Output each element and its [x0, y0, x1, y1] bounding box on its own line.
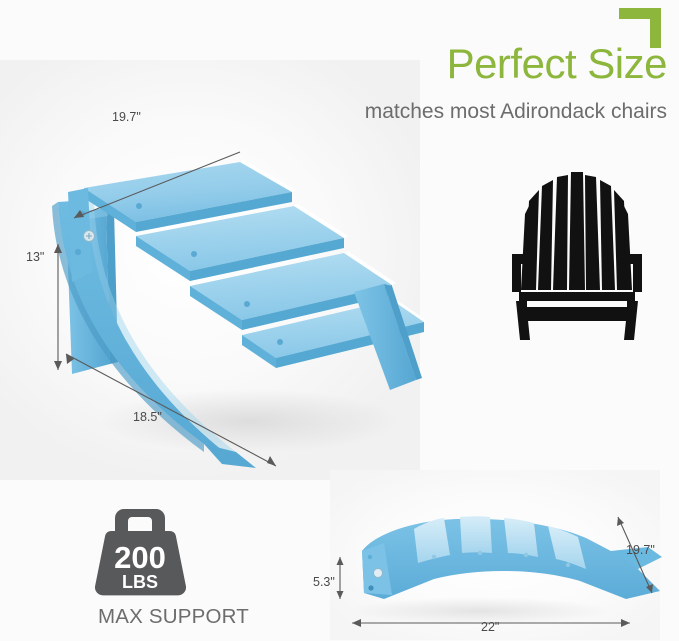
max-support-label: MAX SUPPORT — [66, 605, 281, 629]
dimension-label-width-top: 19.7" — [112, 110, 141, 124]
dimension-label-depth: 18.5" — [133, 410, 162, 424]
max-support-badge: 200 LBS MAX SUPPORT — [66, 505, 286, 635]
adirondack-chair-silhouette-icon — [497, 168, 657, 343]
weight-unit-text: LBS — [122, 572, 158, 592]
infographic-page: Perfect Size matches most Adirondack cha… — [0, 0, 679, 641]
ottoman-folded-illustration — [330, 495, 670, 641]
dimension-label-folded-height: 5.3" — [313, 575, 335, 589]
dimension-label-folded-depth: 19.7" — [626, 543, 655, 557]
weight-icon: 200 LBS — [86, 505, 194, 599]
dimension-label-height: 13" — [26, 250, 44, 264]
page-title: Perfect Size — [447, 40, 667, 88]
ottoman-main-illustration — [44, 96, 424, 466]
weight-value-text: 200 — [114, 540, 166, 575]
dimension-label-folded-width: 22" — [481, 620, 499, 634]
